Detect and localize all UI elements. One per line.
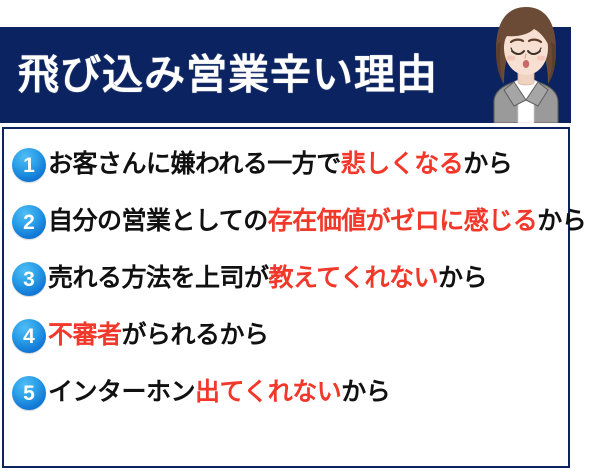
- infographic-root: 飛び込み営業辛い理由: [0, 0, 600, 475]
- page-title: 飛び込み営業辛い理由: [18, 55, 438, 96]
- reason-text-post: から: [537, 207, 586, 235]
- reason-text-highlight: 出てくれない: [195, 378, 341, 406]
- reason-text-highlight: 悲しくなる: [341, 150, 464, 178]
- reasons-panel: 1 お客さんに嫌われる一方で悲しくなるから 2 自分の営業としての存在価値がゼロ…: [2, 127, 570, 468]
- reason-text-post: から: [463, 150, 512, 178]
- reason-text-pre: 売れる方法を上司が: [48, 264, 269, 292]
- reason-text: 自分の営業としての存在価値がゼロに感じるから: [48, 208, 586, 236]
- reason-text: インターホン出てくれないから: [48, 379, 390, 407]
- reason-text: 不審者がられるから: [48, 322, 269, 350]
- reason-text-post: がられるから: [122, 321, 269, 349]
- number-badge: 5: [12, 376, 46, 410]
- number-badge: 2: [12, 205, 46, 239]
- number-badge: 4: [12, 319, 46, 353]
- reason-text: 売れる方法を上司が教えてくれないから: [48, 265, 487, 293]
- reason-text-pre: お客さんに嫌われる一方で: [48, 150, 341, 178]
- list-item: 2 自分の営業としての存在価値がゼロに感じるから: [12, 200, 564, 244]
- reason-text-highlight: 不審者: [48, 321, 122, 349]
- reason-text-highlight: 教えてくれない: [269, 264, 439, 292]
- sad-businesswoman-illustration: [470, 2, 582, 123]
- list-item: 3 売れる方法を上司が教えてくれないから: [12, 257, 564, 301]
- reason-text-pre: インターホン: [48, 378, 195, 406]
- reason-text: お客さんに嫌われる一方で悲しくなるから: [48, 151, 512, 179]
- reasons-list: 1 お客さんに嫌われる一方で悲しくなるから 2 自分の営業としての存在価値がゼロ…: [12, 143, 564, 428]
- reason-text-pre: 自分の営業としての: [48, 207, 268, 235]
- list-item: 1 お客さんに嫌われる一方で悲しくなるから: [12, 143, 564, 187]
- number-badge: 1: [12, 148, 46, 182]
- reason-text-highlight: 存在価値がゼロに感じる: [268, 207, 538, 235]
- list-item: 4 不審者がられるから: [12, 314, 564, 358]
- reason-text-post: から: [341, 378, 390, 406]
- list-item: 5 インターホン出てくれないから: [12, 371, 564, 415]
- reason-text-post: から: [438, 264, 487, 292]
- number-badge: 3: [12, 262, 46, 296]
